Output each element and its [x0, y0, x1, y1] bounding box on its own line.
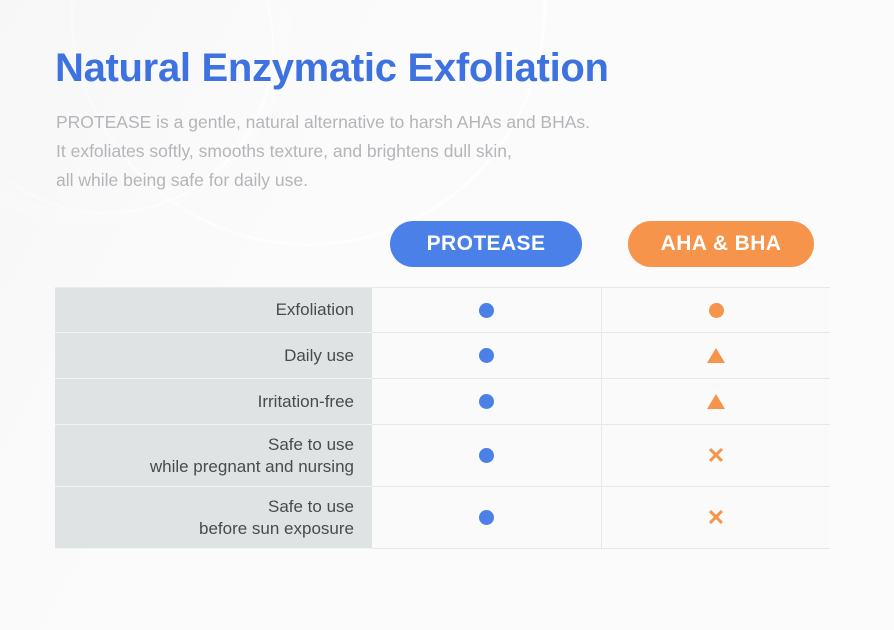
column-badge-protease: PROTEASE	[390, 221, 582, 267]
circle-filled-icon	[479, 394, 494, 409]
row-value-aha-bha: ✕	[601, 487, 830, 549]
table-row: Safe to use before sun exposure ✕	[55, 487, 830, 549]
row-value-aha-bha	[601, 333, 830, 379]
cross-icon: ✕	[707, 445, 725, 467]
row-label-cell: Safe to use before sun exposure	[55, 487, 372, 549]
table-row: Daily use	[55, 333, 830, 379]
table-row: Exfoliation	[55, 287, 830, 333]
row-value-aha-bha: ✕	[601, 425, 830, 487]
column-header-badges: PROTEASE AHA & BHA	[372, 221, 830, 269]
table-row: Safe to use while pregnant and nursing ✕	[55, 425, 830, 487]
row-label-line-1: Safe to use	[199, 496, 354, 518]
column-badge-aha-bha: AHA & BHA	[628, 221, 814, 267]
row-value-protease	[372, 287, 601, 333]
comparison-table: Exfoliation Daily use	[55, 287, 830, 575]
circle-filled-icon	[479, 448, 494, 463]
row-label-cell: Irritation-free	[55, 379, 372, 425]
circle-filled-icon	[479, 348, 494, 363]
row-value-aha-bha	[601, 287, 830, 333]
row-label-line-2: before sun exposure	[199, 518, 354, 540]
row-value-aha-bha	[601, 379, 830, 425]
row-value-protease	[372, 379, 601, 425]
row-label-cell: Exfoliation	[55, 287, 372, 333]
triangle-filled-icon	[707, 348, 725, 363]
cross-icon: ✕	[707, 507, 725, 529]
triangle-filled-icon	[707, 394, 725, 409]
row-label-line-1: Daily use	[284, 346, 354, 365]
page-description: PROTEASE is a gentle, natural alternativ…	[56, 108, 590, 195]
circle-filled-icon	[709, 303, 724, 318]
row-label-line-1: Exfoliation	[276, 300, 354, 319]
description-line-1: PROTEASE is a gentle, natural alternativ…	[56, 108, 590, 137]
description-line-2: It exfoliates softly, smooths texture, a…	[56, 137, 590, 166]
circle-filled-icon	[479, 303, 494, 318]
row-value-protease	[372, 333, 601, 379]
row-label-line-1: Irritation-free	[258, 392, 354, 411]
row-label-line-2: while pregnant and nursing	[150, 456, 354, 478]
row-label-cell: Safe to use while pregnant and nursing	[55, 425, 372, 487]
description-line-3: all while being safe for daily use.	[56, 166, 590, 195]
row-value-protease	[372, 487, 601, 549]
row-label-line-1: Safe to use	[150, 434, 354, 456]
row-value-protease	[372, 425, 601, 487]
row-label-cell: Daily use	[55, 333, 372, 379]
circle-filled-icon	[479, 510, 494, 525]
table-row: Irritation-free	[55, 379, 830, 425]
page-title: Natural Enzymatic Exfoliation	[55, 46, 609, 91]
